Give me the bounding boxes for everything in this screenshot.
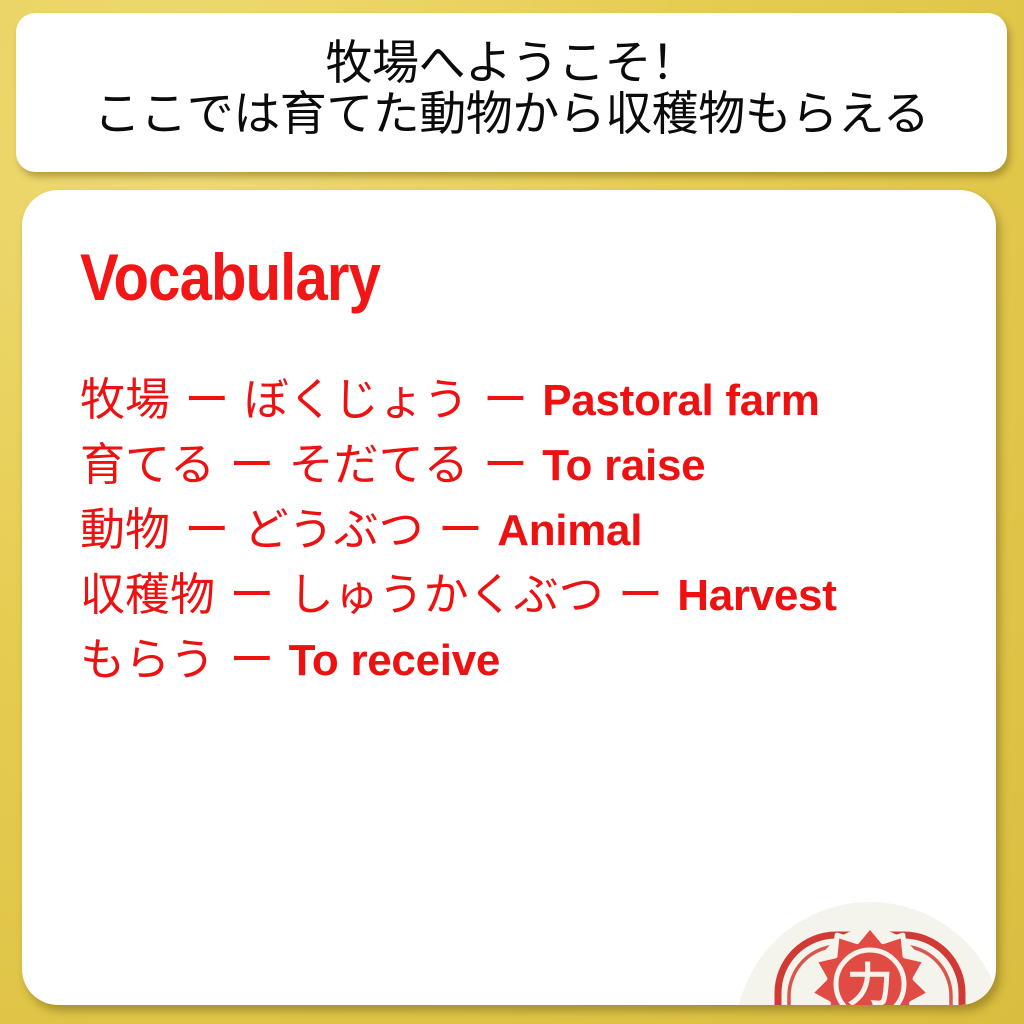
vocabulary-panel: Vocabulary 牧場 ー ぼくじょう ー Pastoral farm 育て… [22, 190, 996, 1005]
vocabulary-entry: もらう ー To receive [80, 628, 980, 693]
entry-separator: ー [170, 373, 244, 426]
entry-reading: どうぶつ [244, 503, 424, 556]
entry-meaning: To receive [289, 636, 500, 685]
entry-word: 育てる [80, 438, 215, 491]
entry-separator: ー [215, 633, 289, 686]
entry-word: 牧場 [80, 373, 170, 426]
vocabulary-entry: 牧場 ー ぼくじょう ー Pastoral farm [80, 368, 980, 433]
vocabulary-entry: 育てる ー そだてる ー To raise [80, 433, 980, 498]
entry-meaning: Harvest [677, 571, 836, 620]
entry-separator: ー [215, 568, 289, 621]
entry-separator: ー [469, 438, 543, 491]
logo-artwork: 力 ゲーム と 漢字 [735, 902, 996, 1005]
entry-separator: ー [469, 373, 543, 426]
entry-word: もらう [80, 633, 215, 686]
page-title: Vocabulary [80, 244, 380, 310]
vocabulary-entry: 動物 ー どうぶつ ー Animal [80, 498, 980, 563]
header-banner: 牧場へようこそ！ ここでは育てた動物から収穫物もらえる [16, 13, 1007, 172]
logo-emblem-char: 力 [847, 958, 893, 1005]
entry-reading: ぼくじょう [244, 373, 469, 426]
entry-meaning: To raise [542, 441, 705, 490]
entry-separator: ー [604, 568, 678, 621]
entry-reading: そだてる [289, 438, 469, 491]
entry-separator: ー [424, 503, 498, 556]
slide-canvas: 牧場へようこそ！ ここでは育てた動物から収穫物もらえる Vocabulary 牧… [0, 0, 1024, 1024]
entry-separator: ー [170, 503, 244, 556]
header-line-2: ここでは育てた動物から収穫物もらえる [94, 90, 930, 141]
brand-logo: 力 ゲーム と 漢字 [735, 902, 996, 1005]
header-line-1: 牧場へようこそ！ [326, 39, 698, 90]
entry-reading: しゅうかくぶつ [289, 568, 604, 621]
entry-word: 収穫物 [80, 568, 215, 621]
vocabulary-list: 牧場 ー ぼくじょう ー Pastoral farm 育てる ー そだてる ー … [80, 368, 980, 693]
entry-separator: ー [215, 438, 289, 491]
entry-meaning: Pastoral farm [542, 376, 819, 425]
vocabulary-entry: 収穫物 ー しゅうかくぶつ ー Harvest [80, 563, 980, 628]
entry-meaning: Animal [497, 506, 642, 555]
entry-word: 動物 [80, 503, 170, 556]
